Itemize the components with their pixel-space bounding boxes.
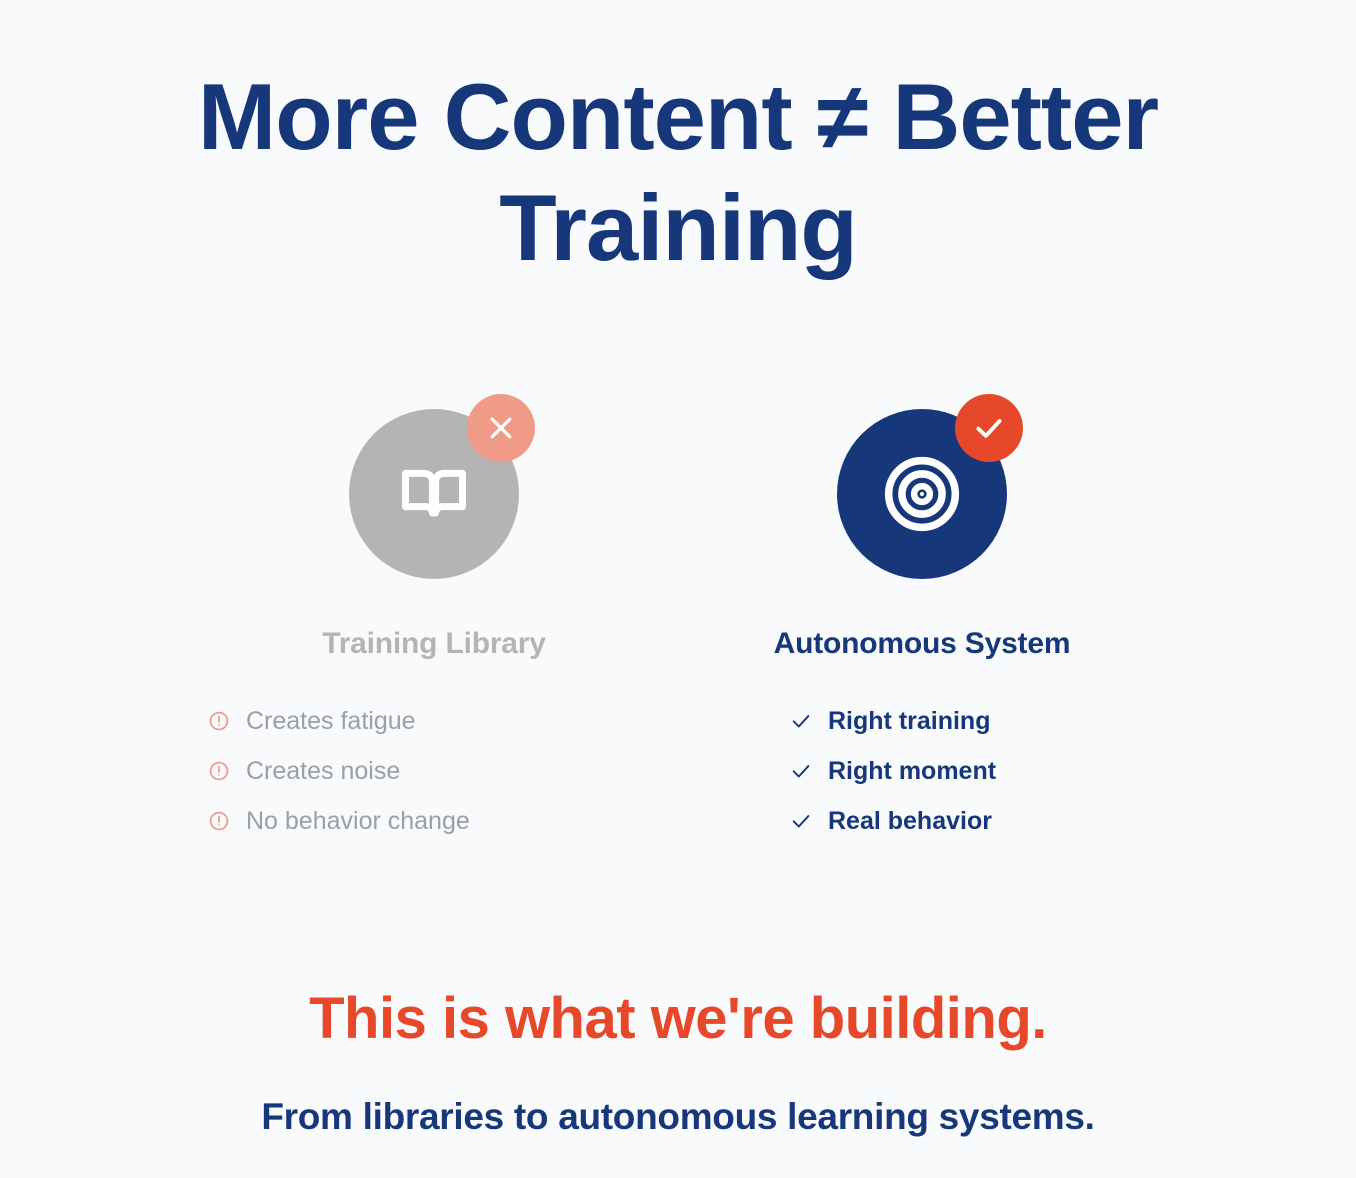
exclamation-circle-icon (208, 760, 230, 782)
list-item: Right training (790, 709, 1166, 734)
list-item: Right moment (790, 759, 1166, 784)
list-item: No behavior change (208, 809, 678, 834)
autonomous-system-icon-group (837, 409, 1007, 579)
list-item: Real behavior (790, 809, 1166, 834)
exclamation-circle-icon (208, 810, 230, 832)
autonomous-system-caption: Autonomous System (774, 627, 1071, 661)
list-item-label: Right moment (828, 759, 996, 784)
training-library-point-list: Creates fatigue Creates noise (190, 709, 678, 834)
list-item-label: Real behavior (828, 809, 992, 834)
list-item-label: Creates fatigue (246, 709, 416, 734)
comparison-column-training-library: Training Library Creates fatigue (190, 409, 678, 834)
list-item: Creates noise (208, 759, 678, 784)
footer-section: This is what we're building. From librar… (0, 985, 1356, 1138)
autonomous-system-point-list: Right training Right moment (678, 709, 1166, 834)
page-title: More Content ≠ Better Training (148, 62, 1208, 284)
exclamation-circle-icon (208, 710, 230, 732)
comparison-section: Training Library Creates fatigue (0, 409, 1356, 834)
list-item-label: Right training (828, 709, 990, 734)
list-item-label: Creates noise (246, 759, 400, 784)
footer-kicker: This is what we're building. (309, 985, 1047, 1052)
check-icon (790, 760, 812, 782)
training-library-caption: Training Library (322, 627, 546, 661)
training-library-icon-group (349, 409, 519, 579)
x-mark-icon (467, 394, 535, 462)
check-mark-icon (955, 394, 1023, 462)
footer-subline: From libraries to autonomous learning sy… (261, 1096, 1094, 1138)
slide-root: More Content ≠ Better Training (0, 0, 1356, 1178)
check-icon (790, 710, 812, 732)
comparison-column-autonomous-system: Autonomous System Right training (678, 409, 1166, 834)
list-item: Creates fatigue (208, 709, 678, 734)
list-item-label: No behavior change (246, 809, 470, 834)
check-icon (790, 810, 812, 832)
